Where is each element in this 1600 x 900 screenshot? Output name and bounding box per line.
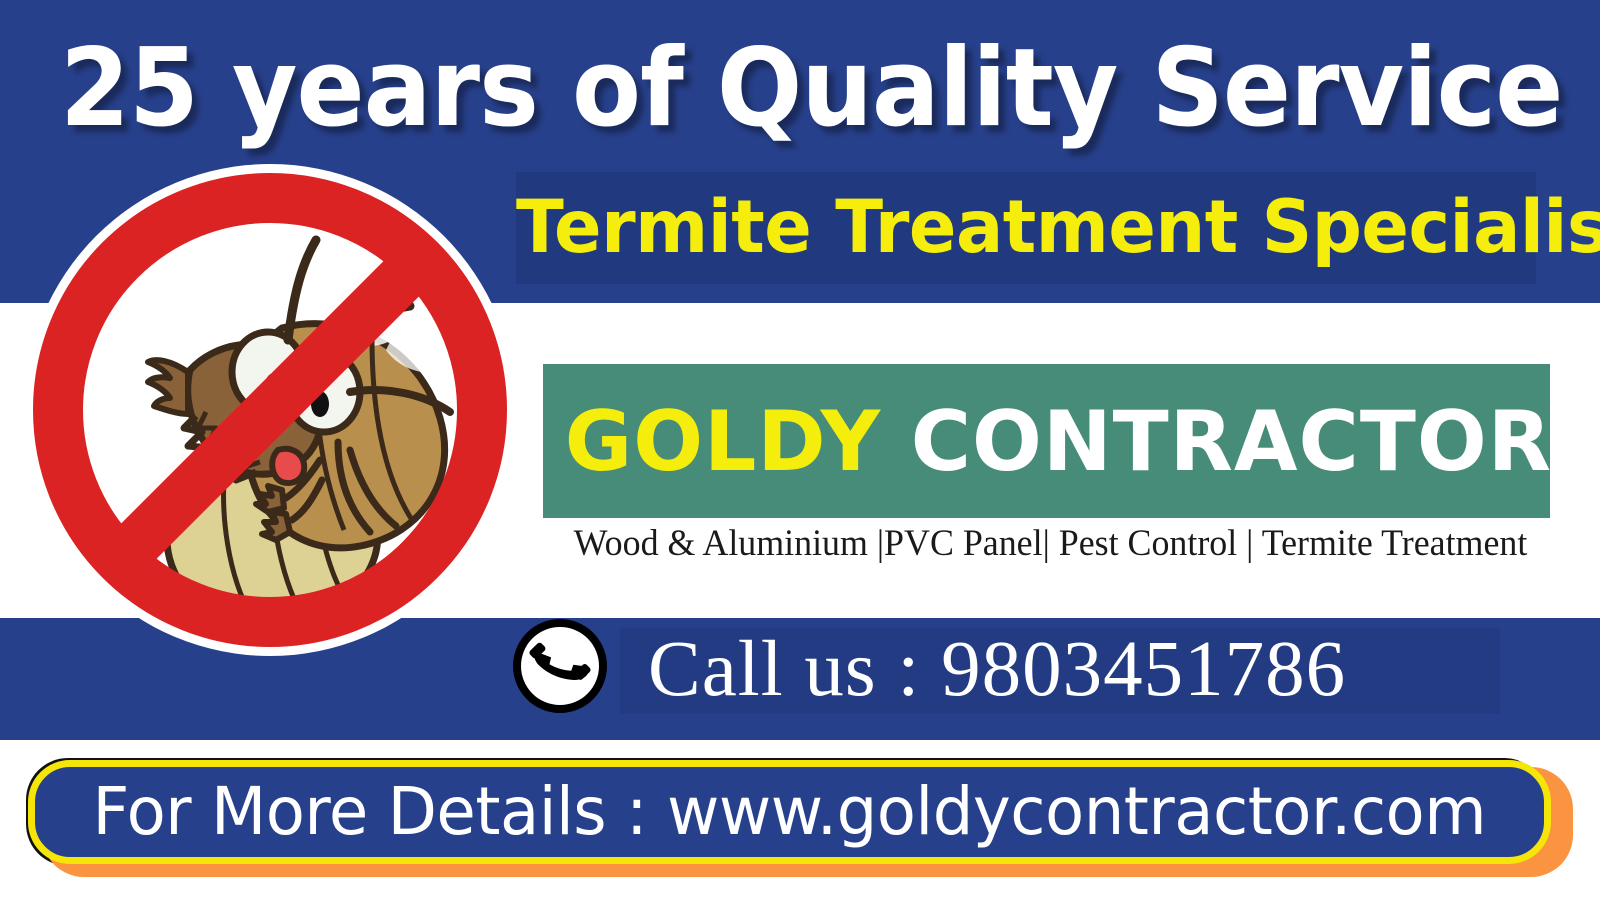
- brand-second-word: CONTRACTOR: [911, 393, 1550, 490]
- services-list: Wood & Aluminium |PVC Panel| Pest Contro…: [558, 518, 1543, 570]
- phone-number-text[interactable]: Call us : 9803451786: [648, 620, 1548, 720]
- website-url-text: For More Details : www.goldycontractor.c…: [93, 779, 1487, 845]
- company-name-bar: GOLDY CONTRACTOR: [543, 364, 1550, 518]
- banner-root: 25 years of Quality Service Termite Trea…: [0, 0, 1600, 900]
- website-bar[interactable]: For More Details : www.goldycontractor.c…: [28, 760, 1551, 864]
- brand-first-word: GOLDY: [565, 393, 881, 490]
- brand-name: GOLDY CONTRACTOR: [543, 400, 1550, 483]
- subtitle-tagline: Termite Treatment Specialist: [516, 182, 1505, 274]
- phone-icon: [512, 618, 608, 714]
- page-title: 25 years of Quality Service: [60, 24, 1381, 154]
- no-termite-icon: [20, 160, 520, 660]
